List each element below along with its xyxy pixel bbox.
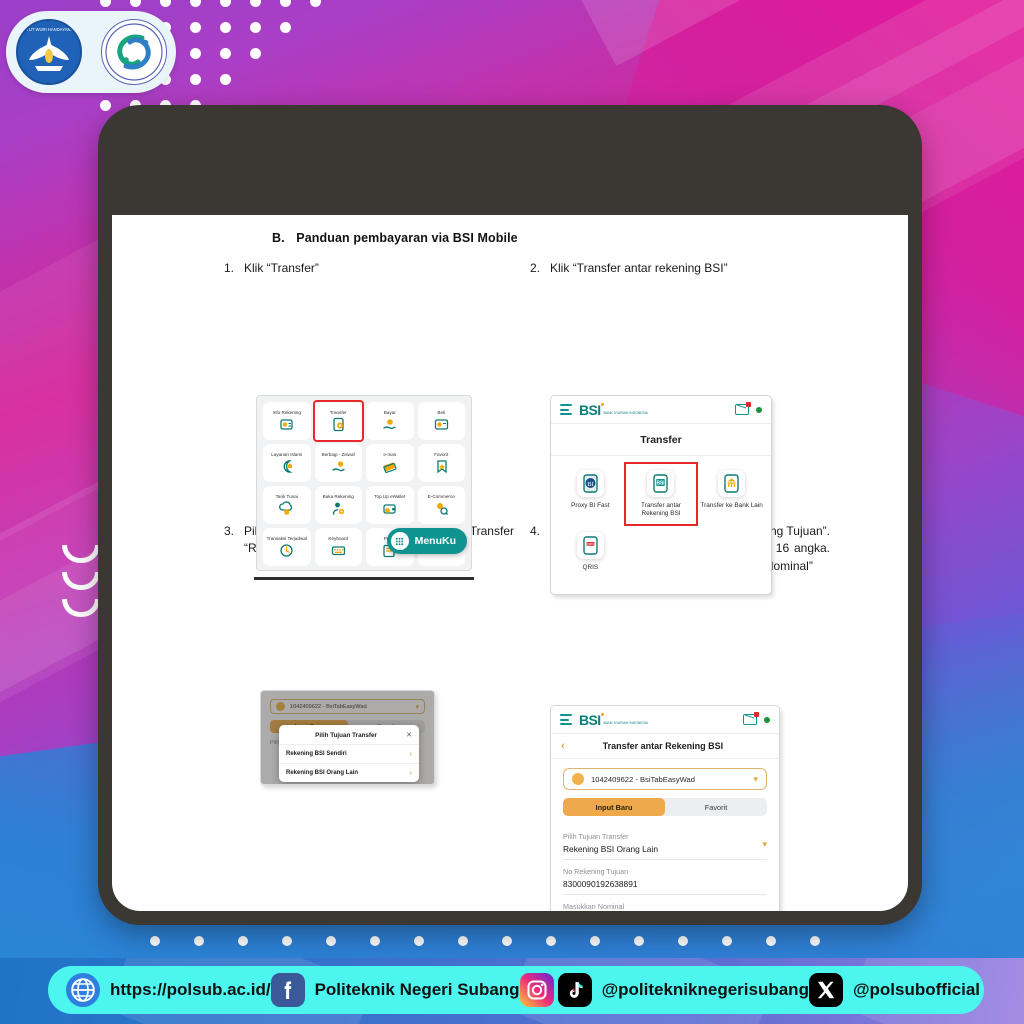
facebook-icon [271,973,305,1007]
transfer-options-grid: BIProxy BI FastBSITransfer antar Rekenin… [551,456,771,586]
menu-item-top-up-ewallet[interactable]: Top Up eWallet [366,486,414,524]
polsub-logo [101,19,167,85]
footer-website[interactable]: https://polsub.ac.id/ [66,973,271,1007]
menu-item-e-commerce[interactable]: E-Commerce [418,486,466,524]
footer-x-label: @polsubofficial [853,980,980,1000]
field-pilih-tujuan-transfer[interactable]: Pilih Tujuan Transfer Rekening BSI Orang… [563,825,767,860]
chevron-down-icon: ▾ [762,839,767,850]
close-icon[interactable]: ✕ [406,731,412,739]
field-value: 8300090192638891 [563,879,767,889]
footer-instagram-tiktok[interactable]: @politekniknegerisubang [520,973,809,1007]
menu-item-transfer[interactable]: Transfer [315,402,363,440]
favorite-icon [434,459,449,474]
account-selector[interactable]: 1042409622 - BsiTabEasyWad ▾ [563,768,767,790]
device-frame: 14 - 31 Januari 2025 B. Panduan pembayar… [98,105,922,925]
qris-icon: QRIS [577,532,604,559]
transfer-option-label: Proxy BI Fast [571,502,609,510]
institution-logos: TUT WURI HANDAYANI [6,11,176,93]
menuku-label: MenuKu [415,535,456,547]
bsi-logo: BSI BANK SYARIAH INDONESIA [579,712,648,728]
chevron-down-icon: ▾ [753,774,758,785]
step-body: Klik “Transfer antar rekening BSI” [550,260,830,277]
step-2: 2. Klik “Transfer antar rekening BSI” [530,260,830,277]
menu-item-label: Berbagi - Ziswaf [322,452,355,457]
menu-item-label: E-Commerce [428,494,455,499]
keyboard-icon [331,543,346,558]
menu-item-buka-rekening[interactable]: Buka Rekening [315,486,363,524]
online-status-icon [764,717,770,723]
section-label: B. [272,231,285,245]
step-number: 4. [530,523,540,575]
menu-item-e-mas[interactable]: e-mas [366,444,414,482]
menu-item-bayar[interactable]: Bayar [366,402,414,440]
section-heading: B. Panduan pembayaran via BSI Mobile [272,231,518,245]
transfer-option-qris[interactable]: QRISQRIS [555,526,626,578]
transfer-option-label: Transfer antar Rekening BSI [628,502,695,518]
open-account-icon [331,501,346,516]
menu-item-label: Keyboard [328,536,348,541]
dialog-option-rekening-bsi-orang-lain[interactable]: Rekening BSI Orang Lain › [279,764,419,782]
dialog-option-rekening-bsi-sendiri[interactable]: Rekening BSI Sendiri › [279,745,419,764]
svg-text:BSI: BSI [657,481,666,487]
step-1: 1. Klik “Transfer” [224,260,524,277]
screenshot-underline [254,577,474,580]
menu-item-info-rekening[interactable]: Info Rekening [263,402,311,440]
bsi-subtitle: BANK SYARIAH INDONESIA [604,722,648,726]
footer-facebook[interactable]: Politeknik Negeri Subang [271,973,520,1007]
inbox-icon[interactable] [735,404,749,415]
pilih-tujuan-transfer-dialog: Pilih Tujuan Transfer ✕ Rekening BSI Sen… [279,725,419,782]
screen-header: ‹ Transfer antar Rekening BSI [551,734,779,759]
bsi-app-header: BSI BANK SYARIAH INDONESIA [551,396,771,424]
globe-icon [66,973,100,1007]
scheduled-transaction-icon [279,543,294,558]
transfer-option-label: Transfer ke Bank Lain [701,502,763,510]
svg-text:BI: BI [587,481,594,488]
hamburger-menu-icon[interactable] [560,404,572,415]
field-label: No Rekening Tujuan [563,867,767,876]
dialog-option-label: Rekening BSI Orang Lain [286,770,358,776]
dot-row-pattern [150,936,1020,950]
footer-x[interactable]: @polsubofficial [809,973,980,1007]
menu-item-label: Layanan Islami [271,452,302,457]
transfer-option-transfer-antar-rekening-bsi[interactable]: BSITransfer antar Rekening BSI [626,464,697,524]
tut-wuri-handayani-logo: TUT WURI HANDAYANI [16,19,82,85]
tab-favorit[interactable]: Favorit [665,798,767,816]
menu-item-transaksi-terjadwal[interactable]: Transaksi Terjadwal [263,528,311,566]
chevron-right-icon: › [410,751,412,758]
screen-title: Transfer antar Rekening BSI [571,741,755,751]
menu-item-layanan-islami[interactable]: Layanan Islami [263,444,311,482]
back-arrow-icon[interactable]: ‹ [561,740,565,752]
footer-pill: https://polsub.ac.id/ Politeknik Negeri … [48,966,984,1014]
menu-item-favorit[interactable]: Favorit [418,444,466,482]
step-number: 2. [530,260,540,277]
tab-group: Input Baru Favorit [563,798,767,816]
proxy-bifast-icon: BI [577,470,604,497]
menu-item-label: Top Up eWallet [374,494,405,499]
menu-item-label: Tarik Tunai [276,494,298,499]
tiktok-icon [558,973,592,1007]
step-number: 3. [224,523,234,558]
document-page: B. Panduan pembayaran via BSI Mobile 1. … [112,215,908,911]
screenshot-bsi-menu-grid: Info RekeningTransferBayarBeliLayanan Is… [256,395,472,571]
menu-item-beli[interactable]: Beli [418,402,466,440]
field-label: Pilih Tujuan Transfer [563,832,767,841]
inbox-icon[interactable] [743,714,757,725]
ecommerce-icon [434,501,449,516]
menu-item-berbagi-ziswaf[interactable]: Berbagi - Ziswaf [315,444,363,482]
bsi-app-header: BSI BANK SYARIAH INDONESIA [551,706,779,734]
footer-tiktok-label: @politekniknegerisubang [602,980,809,1000]
transfer-bsi-icon: BSI [647,470,674,497]
menu-item-label: Transfer [330,410,347,415]
menu-item-label: e-mas [383,452,396,457]
transfer-option-proxy-bi-fast[interactable]: BIProxy BI Fast [555,464,626,524]
field-value: Rekening BSI Orang Lain [563,844,767,854]
menu-item-label: Info Rekening [273,410,301,415]
field-masukkan-nominal[interactable]: Masukkan Nominal 100 [563,895,767,911]
menu-item-label: Favorit [434,452,448,457]
screenshot-bsi-transfer-menu: BSI BANK SYARIAH INDONESIA Transfer BIPr… [550,395,772,595]
field-no-rekening-tujuan[interactable]: No Rekening Tujuan 8300090192638891 [563,860,767,895]
bsi-wordmark-text: BSI [579,402,601,418]
menu-item-label: Transaksi Terjadwal [267,536,307,541]
footer-facebook-label: Politeknik Negeri Subang [315,980,520,1000]
bsi-subtitle: BANK SYARIAH INDONESIA [604,412,648,416]
menuku-fab-button[interactable]: MenuKu [387,528,467,554]
ewallet-icon [382,501,397,516]
dialog-option-label: Rekening BSI Sendiri [286,751,347,757]
menu-item-tarik-tunai[interactable]: Tarik Tunai [263,486,311,524]
chevron-right-icon: › [410,770,412,777]
x-twitter-icon [809,973,843,1007]
bsi-wordmark-text: BSI [579,712,601,728]
pay-icon [382,417,397,432]
menu-item-label: Beli [437,410,445,415]
account-value: 1042409622 - BsiTabEasyWad [591,775,695,784]
field-label: Masukkan Nominal [563,902,767,911]
transfer-icon [331,417,346,432]
transfer-screen-title: Transfer [551,424,771,456]
grid-dots-icon [391,532,409,550]
footer-website-label: https://polsub.ac.id/ [110,980,271,1000]
dialog-title: Pilih Tujuan Transfer [286,732,406,739]
buy-icon [434,417,449,432]
social-footer: https://polsub.ac.id/ Politeknik Negeri … [0,958,1024,1024]
cash-withdraw-icon [279,501,294,516]
menu-item-keyboard[interactable]: Keyboard [315,528,363,566]
menu-item-label: Buka Rekening [323,494,354,499]
instagram-icon [520,973,554,1007]
svg-text:TUT WURI HANDAYANI: TUT WURI HANDAYANI [26,27,71,32]
person-icon [572,773,584,785]
transfer-option-label: QRIS [583,564,599,572]
hamburger-menu-icon[interactable] [560,714,572,725]
account-info-icon [279,417,294,432]
section-title: Panduan pembayaran via BSI Mobile [296,231,517,245]
transfer-option-transfer-ke-bank-lain[interactable]: Transfer ke Bank Lain [696,464,767,524]
ziswaf-icon [331,459,346,474]
step-body: Klik “Transfer” [244,260,524,277]
screenshot-transfer-form: BSI BANK SYARIAH INDONESIA ‹ Transfer an… [550,705,780,911]
screenshot-pilih-tujuan-dialog: 1042409622 - BsiTabEasyWad ▾ Input Baru … [260,690,435,785]
step-number: 1. [224,260,234,277]
online-status-icon [756,407,762,413]
emas-icon [382,459,397,474]
svg-text:QRIS: QRIS [586,542,594,546]
bsi-logo: BSI BANK SYARIAH INDONESIA [579,402,648,418]
transfer-other-bank-icon [718,470,745,497]
islamic-services-icon [279,459,294,474]
tab-input-baru[interactable]: Input Baru [563,798,665,816]
menu-item-label: Bayar [384,410,396,415]
